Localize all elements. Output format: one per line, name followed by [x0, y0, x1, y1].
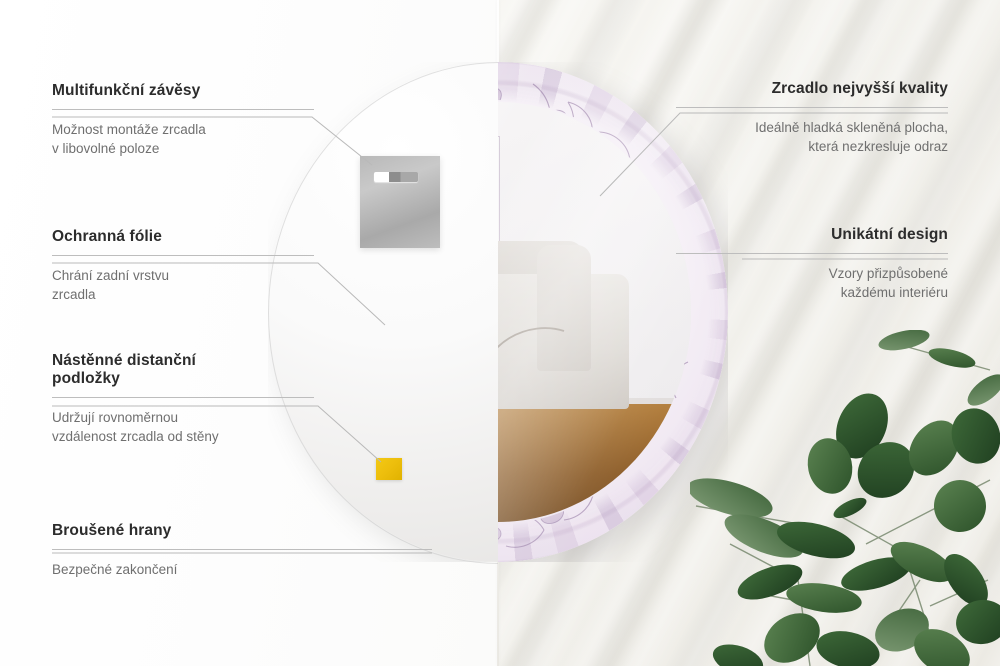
- callout-title: Ochranná fólie: [52, 228, 314, 246]
- callout-rule: [52, 549, 432, 550]
- callout-title: Multifunkční závěsy: [52, 82, 314, 100]
- foliage-branch-overlay: [690, 330, 1000, 666]
- callout-rule: [676, 107, 948, 108]
- callout-unikatni-design: Unikátní design Vzory přizpůsobené každé…: [676, 226, 948, 302]
- callout-description: Vzory přizpůsobené každému interiéru: [676, 264, 948, 302]
- callout-description: Chrání zadní vrstvu zrcadla: [52, 266, 314, 304]
- callout-rule: [676, 253, 948, 254]
- callout-description: Bezpečné zakončení: [52, 560, 432, 579]
- callout-multifunkcni-zavesy: Multifunkční závěsy Možnost montáže zrca…: [52, 82, 314, 158]
- skull-motif: [546, 152, 634, 228]
- callout-rule: [52, 109, 314, 110]
- callout-description: Ideálně hladká skleněná plocha, která ne…: [676, 118, 948, 156]
- callout-rule: [52, 397, 314, 398]
- callout-rule: [52, 255, 314, 256]
- callout-nastenne-distancni-podlozky: Nástěnné distanční podložky Udržují rovn…: [52, 352, 314, 446]
- callout-title: Zrcadlo nejvyšší kvality: [676, 80, 948, 98]
- callout-ochranna-folie: Ochranná fólie Chrání zadní vrstvu zrcad…: [52, 228, 314, 304]
- wall-spacer-pad: [376, 458, 402, 480]
- callout-title: Nástěnné distanční podložky: [52, 352, 314, 388]
- callout-brousene-hrany: Broušené hrany Bezpečné zakončení: [52, 522, 432, 579]
- hanger-bracket: [360, 156, 440, 248]
- hanger-keyhole-slot: [374, 172, 418, 182]
- callout-description: Možnost montáže zrcadla v libovolné polo…: [52, 120, 314, 158]
- callout-description: Udržují rovnoměrnou vzdálenost zrcadla o…: [52, 408, 314, 446]
- callout-title: Broušené hrany: [52, 522, 432, 540]
- callout-title: Unikátní design: [676, 226, 948, 244]
- callout-zrcadlo-nejvyssi-kvality: Zrcadlo nejvyšší kvality Ideálně hladká …: [676, 80, 948, 156]
- infographic-canvas: Multifunkční závěsy Možnost montáže zrca…: [0, 0, 1000, 666]
